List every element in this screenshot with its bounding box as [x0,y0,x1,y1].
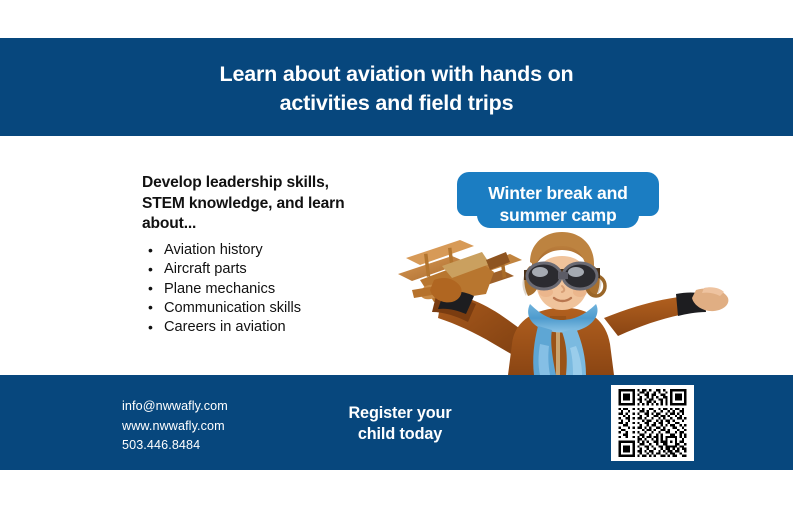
list-item: Aviation history [164,241,301,260]
header-line-2: activities and field trips [0,89,793,118]
subheading-line-3: about... [142,214,392,235]
badge-line-2: summer camp [457,204,659,226]
subheading: Develop leadership skills, STEM knowledg… [142,173,392,235]
subheading-line-2: STEM knowledge, and learn [142,194,392,215]
badge-line-1: Winter break and [457,182,659,204]
list-item: Careers in aviation [164,318,301,337]
list-item: Plane mechanics [164,280,301,299]
contact-website[interactable]: www.nwwafly.com [122,417,228,437]
subheading-line-1: Develop leadership skills, [142,173,392,194]
badge-label: Winter break and summer camp [457,182,659,226]
contact-email[interactable]: info@nwwafly.com [122,397,228,417]
header-line-1: Learn about aviation with hands on [0,60,793,89]
flyer-canvas: Learn about aviation with hands on activ… [0,0,800,510]
cta-line-2: child today [316,424,484,445]
session-badge: Winter break and summer camp [457,172,659,230]
cta-text: Register your child today [316,403,484,446]
qr-code[interactable] [611,385,694,461]
list-item: Communication skills [164,299,301,318]
contact-info: info@nwwafly.com www.nwwafly.com 503.446… [122,397,228,456]
cta-line-1: Register your [316,403,484,424]
topics-list: Aviation history Aircraft parts Plane me… [139,241,301,337]
list-item: Aircraft parts [164,260,301,279]
aviator-child-photo [390,232,730,375]
page-title: Learn about aviation with hands on activ… [0,60,793,117]
contact-phone[interactable]: 503.446.8484 [122,436,228,456]
